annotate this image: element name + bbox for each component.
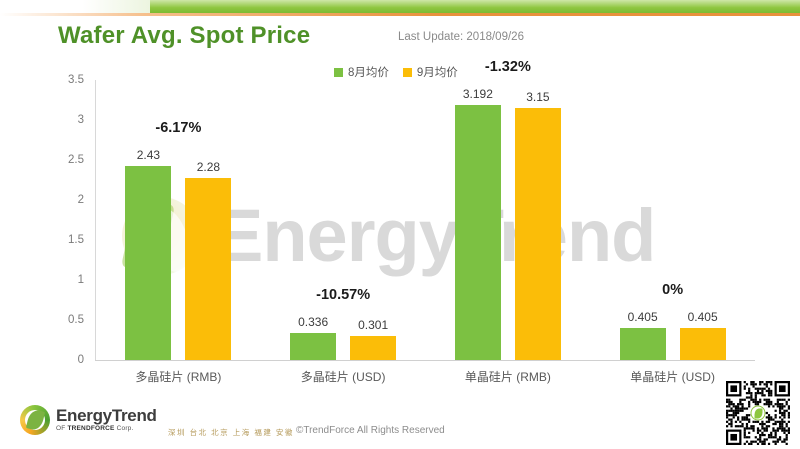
bar-column[interactable]: 2.28 bbox=[185, 80, 231, 360]
bar-value-label: 2.43 bbox=[137, 148, 160, 162]
bars-area: -6.17%2.432.28-10.57%0.3360.301-1.32%3.1… bbox=[96, 80, 755, 360]
bar[interactable] bbox=[680, 328, 726, 360]
bar-column[interactable]: 0.336 bbox=[290, 80, 336, 360]
y-axis-tick: 3.5 bbox=[68, 74, 84, 86]
bar-column[interactable]: 3.15 bbox=[515, 80, 561, 360]
footer: EnergyTrend OF TRENDFORCE Corp. 深圳 台北 北京… bbox=[0, 397, 800, 449]
legend-swatch-sep bbox=[403, 68, 412, 77]
qr-center-logo-icon bbox=[751, 406, 766, 421]
bar-group: -1.32%3.1923.15 bbox=[426, 80, 591, 360]
y-axis-tick: 2 bbox=[78, 194, 84, 206]
y-axis: 00.511.522.533.5 bbox=[30, 80, 92, 361]
last-update-label: Last Update: 2018/09/26 bbox=[398, 31, 524, 43]
energytrend-leaf-icon bbox=[20, 405, 50, 435]
bar[interactable] bbox=[185, 178, 231, 360]
x-axis-label: 单晶硅片 (RMB) bbox=[426, 368, 591, 385]
x-axis-label: 单晶硅片 (USD) bbox=[590, 368, 755, 385]
bar-column[interactable]: 0.301 bbox=[350, 80, 396, 360]
legend-item-aug[interactable]: 8月均价 bbox=[334, 64, 389, 80]
footer-brand-sub-suffix: Corp. bbox=[117, 425, 134, 432]
bar-column[interactable]: 2.43 bbox=[125, 80, 171, 360]
bar-value-label: 0.336 bbox=[298, 315, 328, 329]
x-axis-label: 多晶硅片 (USD) bbox=[261, 368, 426, 385]
bar-group: 0%0.4050.405 bbox=[590, 80, 755, 360]
bar[interactable] bbox=[125, 166, 171, 360]
x-axis-line bbox=[95, 360, 755, 361]
bar-value-label: 0.301 bbox=[358, 318, 388, 332]
y-axis-tick: 3 bbox=[78, 114, 84, 126]
footer-cities: 深圳 台北 北京 上海 福建 安徽 bbox=[168, 427, 294, 438]
page-title: Wafer Avg. Spot Price bbox=[58, 22, 310, 50]
energytrend-logo: EnergyTrend OF TRENDFORCE Corp. bbox=[20, 405, 157, 435]
footer-brand-sub-main: TRENDFORCE bbox=[67, 425, 114, 432]
bar-value-label: 0.405 bbox=[688, 310, 718, 324]
bar-column[interactable]: 0.405 bbox=[620, 80, 666, 360]
bar[interactable] bbox=[620, 328, 666, 360]
bar-column[interactable]: 0.405 bbox=[680, 80, 726, 360]
footer-brand-name: EnergyTrend bbox=[56, 407, 157, 424]
y-axis-tick: 0 bbox=[78, 354, 84, 366]
bar-value-label: 2.28 bbox=[197, 160, 220, 174]
bar-value-label: 3.15 bbox=[526, 90, 549, 104]
slide-root: Wafer Avg. Spot Price Last Update: 2018/… bbox=[0, 0, 800, 449]
footer-copyright: ©TrendForce All Rights Reserved bbox=[296, 425, 445, 436]
y-axis-tick: 2.5 bbox=[68, 154, 84, 166]
qr-code[interactable] bbox=[726, 381, 790, 445]
change-annotation: -1.32% bbox=[426, 59, 591, 75]
bar-group: -10.57%0.3360.301 bbox=[261, 80, 426, 360]
bar[interactable] bbox=[350, 336, 396, 360]
bar[interactable] bbox=[515, 108, 561, 360]
bar[interactable] bbox=[290, 333, 336, 360]
chart-plot-area: 00.511.522.533.5 -6.17%2.432.28-10.57%0.… bbox=[0, 80, 800, 370]
y-axis-tick: 1 bbox=[78, 274, 84, 286]
x-axis-label: 多晶硅片 (RMB) bbox=[96, 368, 261, 385]
bar-value-label: 0.405 bbox=[628, 310, 658, 324]
bar-group: -6.17%2.432.28 bbox=[96, 80, 261, 360]
top-green-accent-bar bbox=[150, 0, 800, 13]
bar[interactable] bbox=[455, 105, 501, 360]
footer-brand-sub: OF TRENDFORCE Corp. bbox=[56, 426, 157, 433]
legend-swatch-aug bbox=[334, 68, 343, 77]
y-axis-tick: 0.5 bbox=[68, 314, 84, 326]
legend-label-aug: 8月均价 bbox=[348, 64, 389, 80]
bar-column[interactable]: 3.192 bbox=[455, 80, 501, 360]
footer-brand-sub-prefix: OF bbox=[56, 425, 65, 432]
header: Wafer Avg. Spot Price Last Update: 2018/… bbox=[0, 22, 800, 62]
top-orange-accent-line bbox=[0, 13, 800, 16]
y-axis-tick: 1.5 bbox=[68, 234, 84, 246]
bar-value-label: 3.192 bbox=[463, 87, 493, 101]
x-axis-labels: 多晶硅片 (RMB)多晶硅片 (USD)单晶硅片 (RMB)单晶硅片 (USD) bbox=[96, 368, 755, 385]
